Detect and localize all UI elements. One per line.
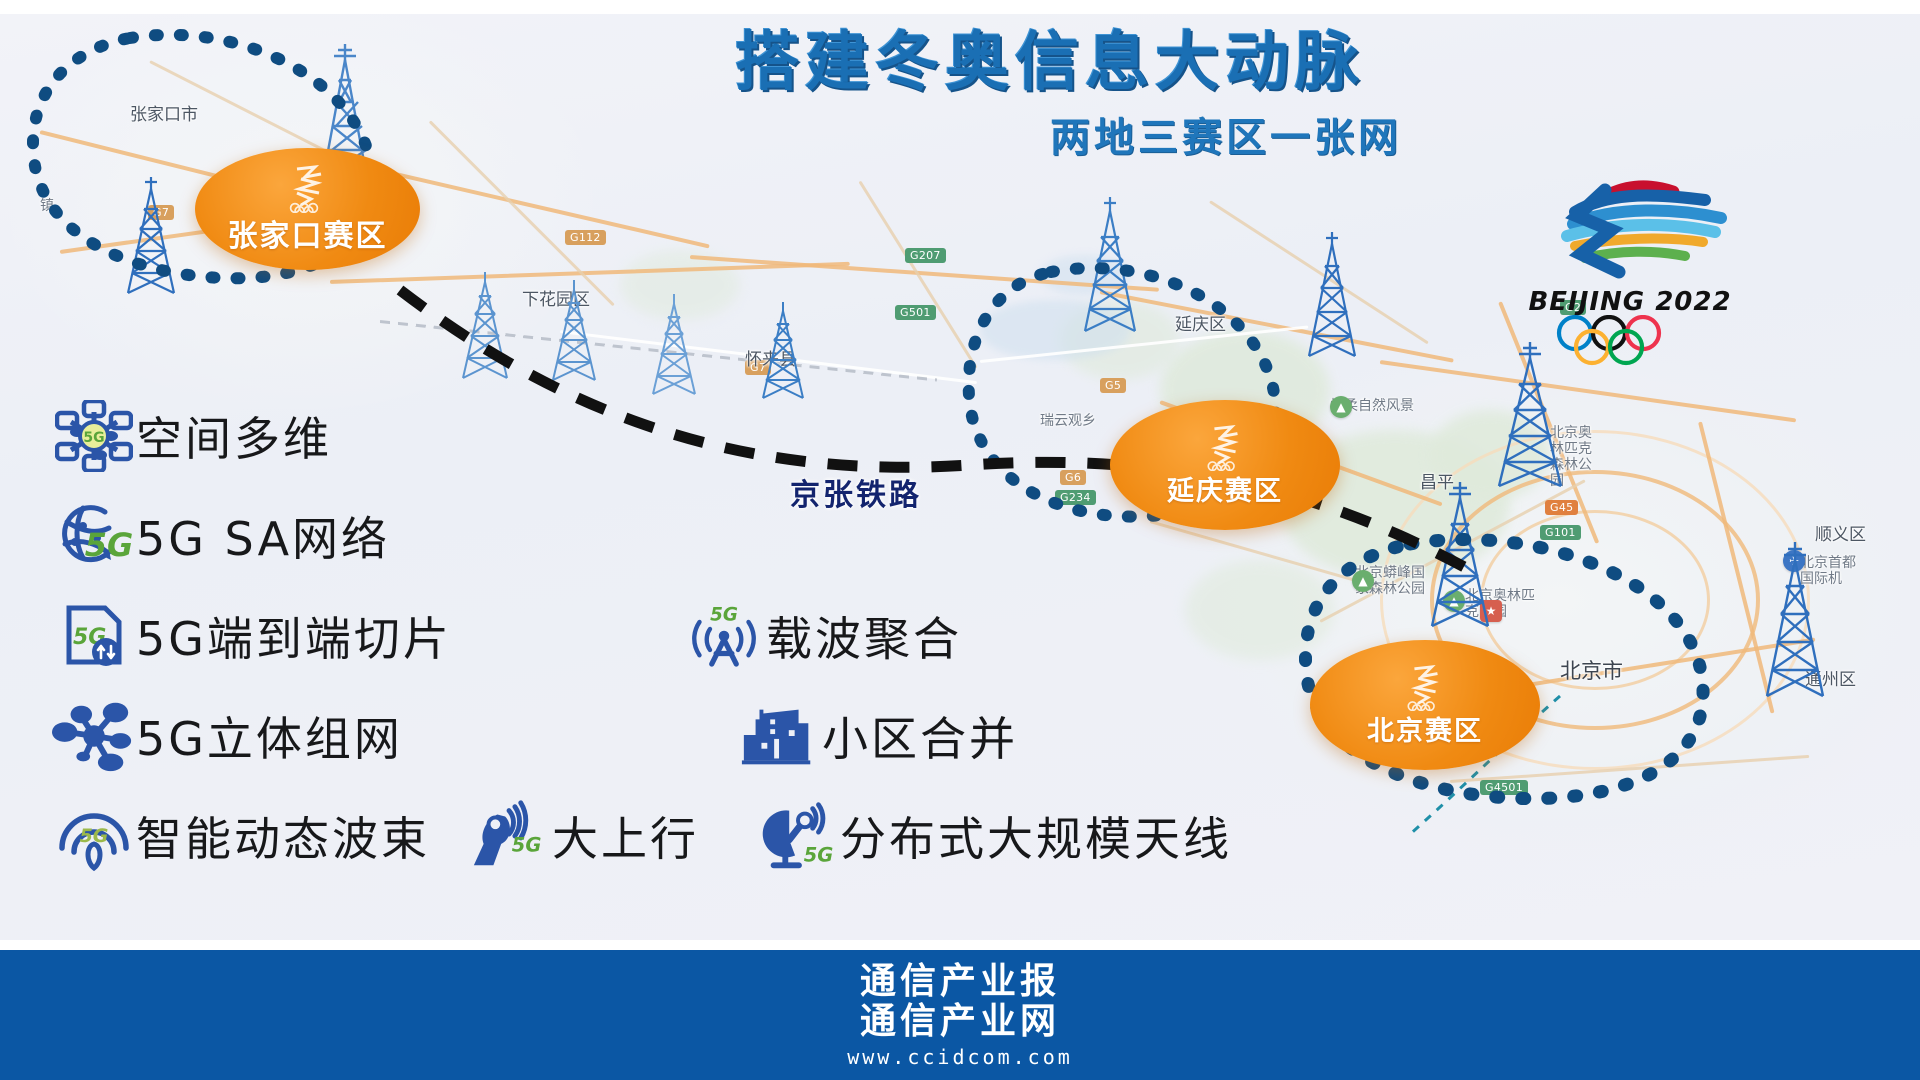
page-subtitle: 两地三赛区一张网 xyxy=(690,105,1410,163)
poster-title-block: 搭建冬奥信息大动脉 两地三赛区一张网 xyxy=(690,30,1410,163)
highway-shield: G101 xyxy=(1540,525,1581,540)
map-city-label: 延庆区 xyxy=(1175,310,1226,335)
feature-label: 空间多维 xyxy=(136,403,332,469)
5g-uplink-dish-icon: 5G xyxy=(468,800,552,872)
5g-globe-icon: 5G xyxy=(52,500,136,572)
feature-row: 5G 5G SA网络 xyxy=(52,500,1232,572)
feature-item-space-multidimension[interactable]: 5G 空间多维 xyxy=(52,400,332,472)
top-edge-band xyxy=(0,0,1920,14)
highway-shield: G4501 xyxy=(1480,780,1528,795)
feature-item-dynamic-beamforming[interactable]: 5G 智能动态波束 xyxy=(52,800,468,872)
beijing-2022-wordmark: BEIJING 2022 xyxy=(1505,287,1755,317)
highway-shield: G501 xyxy=(895,305,936,320)
feature-label: 5G端到端切片 xyxy=(136,603,452,669)
highway-shield: G5 xyxy=(1100,378,1126,393)
transmission-tower-icon xyxy=(545,278,603,382)
svg-text:5G: 5G xyxy=(804,843,834,866)
footer-url: www.ccidcom.com xyxy=(847,1046,1073,1068)
feature-item-cell-merging[interactable]: 小区合并 xyxy=(738,700,1018,772)
feature-label: 5G立体组网 xyxy=(136,703,403,769)
beijing-2022-logo: BEIJING 2022 xyxy=(1505,176,1755,371)
svg-text:5G: 5G xyxy=(512,834,542,857)
feature-label: 智能动态波束 xyxy=(136,803,430,869)
feature-label: 5G SA网络 xyxy=(136,503,390,569)
page-title: 搭建冬奥信息大动脉 xyxy=(690,30,1410,97)
park-poi-icon: ▲ xyxy=(1330,396,1352,418)
5g-massive-mimo-icon: 5G xyxy=(756,800,840,872)
olympic-emblem-icon xyxy=(1395,663,1455,711)
5g-carrier-tower-icon: 5G xyxy=(682,600,766,672)
5g-beam-icon: 5G xyxy=(52,800,136,872)
feature-list: 5G 空间多维 xyxy=(52,400,1232,872)
park-poi-icon: ▲ xyxy=(1352,570,1374,592)
svg-text:5G: 5G xyxy=(710,604,738,625)
beijing-2022-emblem-icon xyxy=(1515,176,1745,281)
svg-text:5G: 5G xyxy=(85,526,134,564)
5g-mesh-hub-icon: 5G xyxy=(52,400,136,472)
footer-line-1: 通信产业报 xyxy=(847,962,1073,1002)
transmission-tower-icon xyxy=(755,300,811,400)
feature-item-5g-3d-networking[interactable]: 5G立体组网 xyxy=(52,700,692,772)
buildings-icon xyxy=(738,700,822,772)
feature-item-large-uplink[interactable]: 5G 大上行 xyxy=(468,800,756,872)
olympic-rings-icon xyxy=(1545,315,1715,367)
svg-text:5G: 5G xyxy=(83,430,104,446)
infographic-poster: G7 G112 G207 G501 G7 G5 G6 G234 G45 G101… xyxy=(0,0,1920,1080)
highway-shield: G45 xyxy=(1545,500,1578,515)
transmission-tower-icon xyxy=(1300,230,1364,360)
map-poi-label: 镇 xyxy=(40,195,54,215)
5g-network-nodes-icon xyxy=(52,700,136,772)
footer-brand: 通信产业报 通信产业网 www.ccidcom.com xyxy=(847,962,1073,1068)
footer-bar: 通信产业报 通信产业网 www.ccidcom.com xyxy=(0,950,1920,1080)
feature-item-5g-e2e-slicing[interactable]: 5G 5G端到端切片 xyxy=(52,600,672,672)
footer-line-2: 通信产业网 xyxy=(847,1002,1073,1042)
feature-label: 小区合并 xyxy=(822,703,1018,769)
venue-name: 张家口赛区 xyxy=(228,211,388,255)
footer-edge-band xyxy=(0,940,1920,950)
venue-name: 北京赛区 xyxy=(1367,709,1483,748)
transmission-tower-icon xyxy=(1075,195,1145,335)
feature-row: 5G立体组网 xyxy=(52,700,1232,772)
transmission-tower-icon xyxy=(1420,480,1500,630)
transmission-tower-icon xyxy=(1755,540,1835,700)
feature-label: 大上行 xyxy=(552,803,699,869)
feature-item-distributed-massive-mimo[interactable]: 5G 分布式大规模天线 xyxy=(756,800,1232,872)
feature-row: 5G 空间多维 xyxy=(52,400,1232,472)
feature-row: 5G 智能动态波束 xyxy=(52,800,1232,872)
svg-text:5G: 5G xyxy=(80,825,109,847)
feature-label: 分布式大规模天线 xyxy=(840,803,1232,869)
transmission-tower-icon xyxy=(118,175,184,295)
feature-item-5g-sa-network[interactable]: 5G 5G SA网络 xyxy=(52,500,390,572)
feature-label: 载波聚合 xyxy=(766,603,962,669)
map-city-label: 张家口市 xyxy=(130,100,198,125)
feature-row: 5G 5G端到端切片 xyxy=(52,600,1232,672)
venue-bubble-beijing[interactable]: 北京赛区 xyxy=(1310,640,1540,770)
highway-shield: G207 xyxy=(905,248,946,263)
venue-bubble-zhangjiakou[interactable]: 张家口赛区 xyxy=(195,148,420,270)
olympic-emblem-icon xyxy=(277,163,339,213)
transmission-tower-icon xyxy=(455,270,515,380)
map-city-label: 北京市 xyxy=(1560,655,1623,685)
highway-shield: G112 xyxy=(565,230,606,245)
railway-label: 京张铁路 xyxy=(790,470,922,514)
feature-item-carrier-aggregation[interactable]: 5G 载波聚合 xyxy=(682,600,962,672)
transmission-tower-icon xyxy=(645,292,703,396)
5g-slice-card-icon: 5G xyxy=(52,600,136,672)
